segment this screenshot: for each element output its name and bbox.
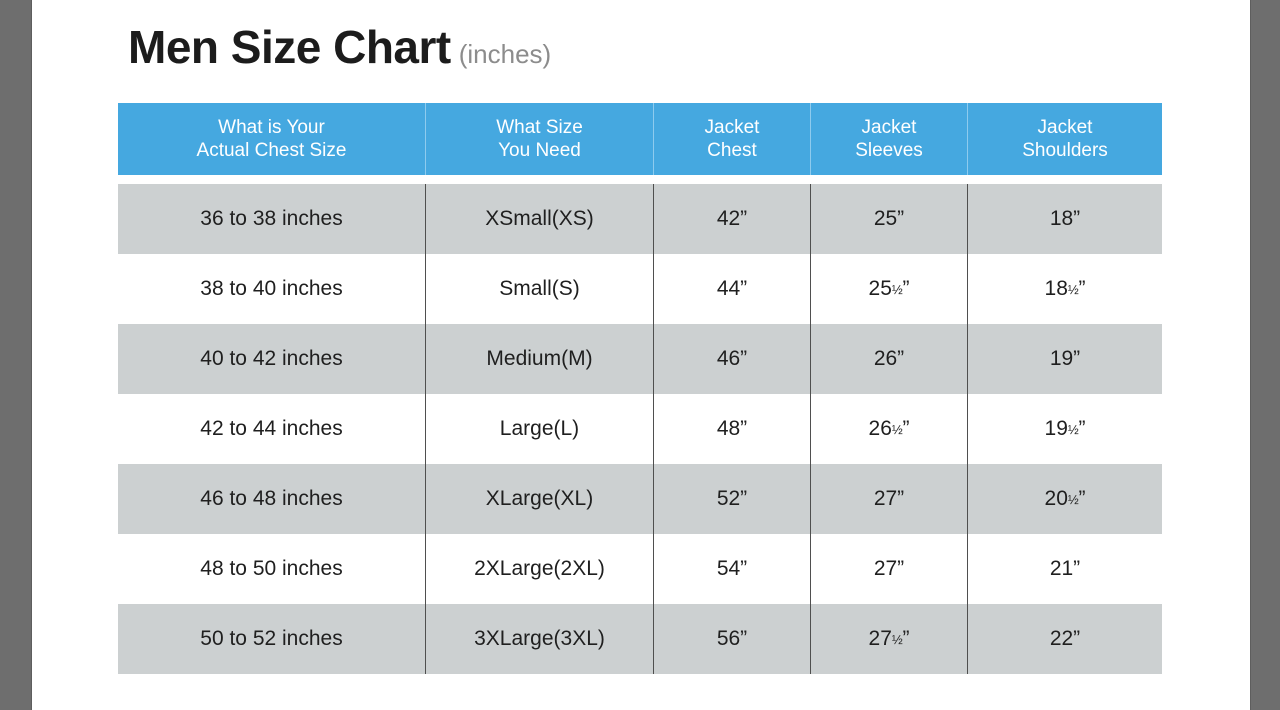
column-header-line1: Jacket xyxy=(705,116,760,139)
cell-size-needed: XSmall(XS) xyxy=(426,184,654,254)
cell-jacket-sleeves: 27” xyxy=(811,534,968,604)
table-row: 50 to 52 inches3XLarge(3XL)56”27½”22” xyxy=(118,604,1162,674)
table-row: 48 to 50 inches2XLarge(2XL)54”27”21” xyxy=(118,534,1162,604)
cell-chest-range: 36 to 38 inches xyxy=(118,184,426,254)
cell-jacket-sleeves: 25½” xyxy=(811,254,968,324)
column-header-jacket-shoulders: Jacket Shoulders xyxy=(968,103,1162,175)
cell-size-needed: Large(L) xyxy=(426,394,654,464)
table-row: 46 to 48 inchesXLarge(XL)52”27”20½” xyxy=(118,464,1162,534)
cell-chest-range: 42 to 44 inches xyxy=(118,394,426,464)
cell-jacket-shoulders: 18” xyxy=(968,184,1162,254)
size-chart-table: What is Your Actual Chest Size What Size… xyxy=(118,103,1162,674)
cell-jacket-sleeves: 27½” xyxy=(811,604,968,674)
cell-jacket-sleeves: 26½” xyxy=(811,394,968,464)
title-main: Men Size Chart xyxy=(128,21,451,73)
letterbox-right xyxy=(1250,0,1280,710)
column-header-line1: Jacket xyxy=(1038,116,1093,139)
cell-jacket-chest: 44” xyxy=(654,254,811,324)
cell-jacket-chest: 52” xyxy=(654,464,811,534)
cell-jacket-shoulders: 20½” xyxy=(968,464,1162,534)
cell-jacket-chest: 42” xyxy=(654,184,811,254)
cell-size-needed: Medium(M) xyxy=(426,324,654,394)
cell-size-needed: 2XLarge(2XL) xyxy=(426,534,654,604)
column-header-jacket-sleeves: Jacket Sleeves xyxy=(811,103,968,175)
column-header-line2: You Need xyxy=(498,139,581,162)
table-row: 42 to 44 inchesLarge(L)48”26½”19½” xyxy=(118,394,1162,464)
cell-jacket-shoulders: 21” xyxy=(968,534,1162,604)
cell-jacket-chest: 46” xyxy=(654,324,811,394)
column-header-line2: Chest xyxy=(707,139,757,162)
title-unit: (inches) xyxy=(459,39,551,69)
column-header-line1: Jacket xyxy=(862,116,917,139)
cell-jacket-shoulders: 19” xyxy=(968,324,1162,394)
cell-size-needed: XLarge(XL) xyxy=(426,464,654,534)
cell-size-needed: Small(S) xyxy=(426,254,654,324)
screen: Men Size Chart(inches) What is Your Actu… xyxy=(0,0,1280,710)
page-title: Men Size Chart(inches) xyxy=(128,20,551,74)
cell-chest-range: 48 to 50 inches xyxy=(118,534,426,604)
letterbox-left xyxy=(0,0,32,710)
cell-chest-range: 50 to 52 inches xyxy=(118,604,426,674)
column-header-line2: Sleeves xyxy=(855,139,923,162)
table-body: 36 to 38 inchesXSmall(XS)42”25”18”38 to … xyxy=(118,184,1162,674)
cell-jacket-chest: 48” xyxy=(654,394,811,464)
cell-jacket-shoulders: 22” xyxy=(968,604,1162,674)
cell-jacket-sleeves: 26” xyxy=(811,324,968,394)
cell-jacket-sleeves: 27” xyxy=(811,464,968,534)
cell-chest-range: 40 to 42 inches xyxy=(118,324,426,394)
column-header-size-you-need: What Size You Need xyxy=(426,103,654,175)
column-header-line2: Shoulders xyxy=(1022,139,1108,162)
cell-chest-range: 38 to 40 inches xyxy=(118,254,426,324)
cell-jacket-shoulders: 18½” xyxy=(968,254,1162,324)
table-row: 36 to 38 inchesXSmall(XS)42”25”18” xyxy=(118,184,1162,254)
cell-jacket-sleeves: 25” xyxy=(811,184,968,254)
column-header-actual-chest-size: What is Your Actual Chest Size xyxy=(118,103,426,175)
column-header-line1: What Size xyxy=(496,116,583,139)
table-header-row: What is Your Actual Chest Size What Size… xyxy=(118,103,1162,175)
cell-size-needed: 3XLarge(3XL) xyxy=(426,604,654,674)
column-header-line2: Actual Chest Size xyxy=(197,139,347,162)
cell-chest-range: 46 to 48 inches xyxy=(118,464,426,534)
column-header-jacket-chest: Jacket Chest xyxy=(654,103,811,175)
header-body-gap xyxy=(118,175,1162,184)
table-row: 40 to 42 inchesMedium(M)46”26”19” xyxy=(118,324,1162,394)
cell-jacket-shoulders: 19½” xyxy=(968,394,1162,464)
size-chart-page: Men Size Chart(inches) What is Your Actu… xyxy=(32,0,1250,710)
column-header-line1: What is Your xyxy=(218,116,325,139)
cell-jacket-chest: 54” xyxy=(654,534,811,604)
table-row: 38 to 40 inchesSmall(S)44”25½”18½” xyxy=(118,254,1162,324)
cell-jacket-chest: 56” xyxy=(654,604,811,674)
